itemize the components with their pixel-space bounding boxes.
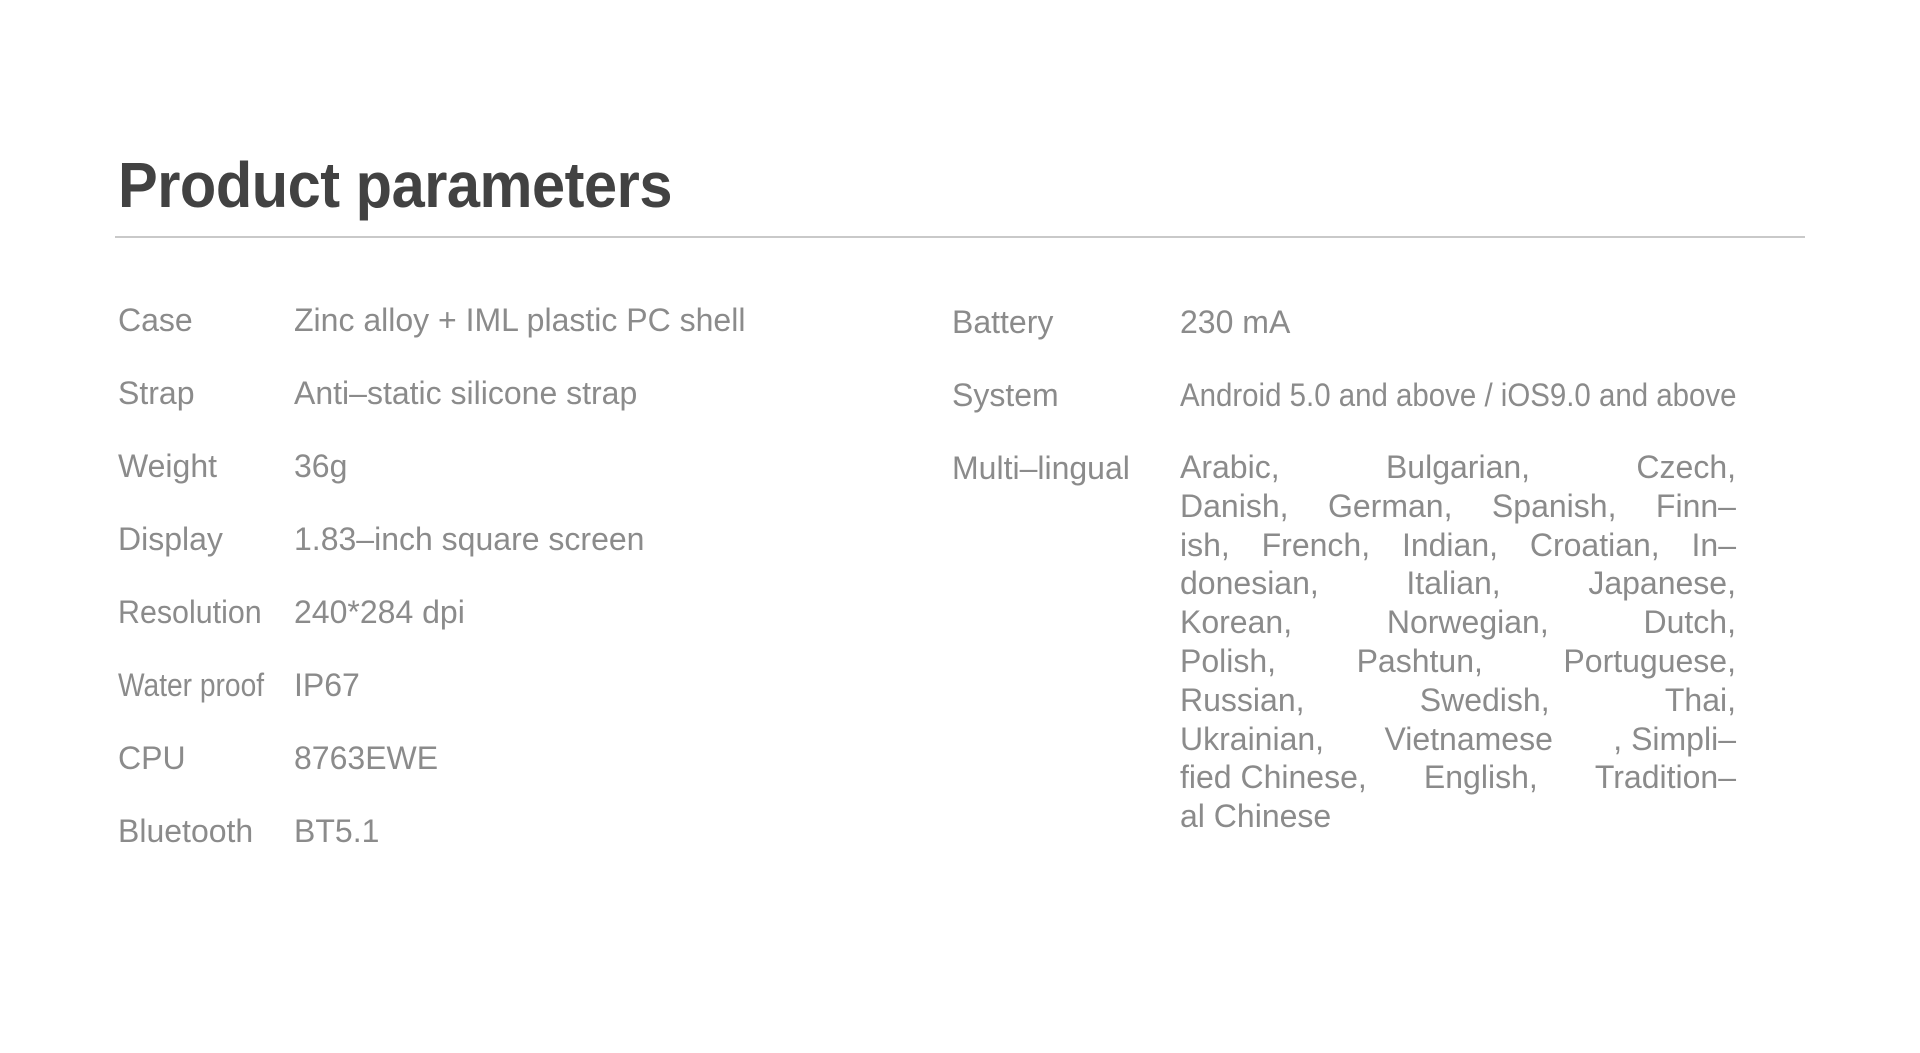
multilingual-word: Dutch, bbox=[1644, 603, 1736, 642]
spec-column-left: Case Zinc alloy + IML plastic PC shell S… bbox=[118, 300, 878, 884]
spec-row-bluetooth: Bluetooth BT5.1 bbox=[118, 811, 878, 884]
multilingual-word: Bulgarian, bbox=[1386, 448, 1530, 487]
spec-value-water-proof: IP67 bbox=[294, 665, 360, 705]
spec-label-case: Case bbox=[118, 300, 193, 340]
spec-value-resolution: 240*284 dpi bbox=[294, 592, 465, 632]
multilingual-line: Danish,German,Spanish,Finn– bbox=[1180, 487, 1736, 526]
spec-column-right: Battery 230 mA System Android 5.0 and ab… bbox=[952, 302, 1742, 448]
multilingual-line: fied Chinese,English,Tradition– bbox=[1180, 758, 1736, 797]
spec-value-case: Zinc alloy + IML plastic PC shell bbox=[294, 300, 745, 340]
multilingual-line: donesian,Italian,Japanese, bbox=[1180, 564, 1736, 603]
multilingual-word: Ukrainian, bbox=[1180, 720, 1324, 759]
multilingual-word: French, bbox=[1262, 526, 1370, 565]
multilingual-word: Czech, bbox=[1636, 448, 1736, 487]
multilingual-word: Vietnamese bbox=[1384, 720, 1552, 759]
page-title: Product parameters bbox=[118, 149, 672, 221]
spec-row-strap: Strap Anti–static silicone strap bbox=[118, 373, 878, 446]
spec-value-system: Android 5.0 and above / iOS9.0 and above bbox=[1180, 375, 1736, 415]
multilingual-word: Japanese, bbox=[1588, 564, 1736, 603]
spec-value-strap: Anti–static silicone strap bbox=[294, 373, 637, 413]
multilingual-word: English, bbox=[1424, 758, 1538, 797]
multilingual-word: In– bbox=[1692, 526, 1736, 565]
spec-label-system: System bbox=[952, 375, 1059, 415]
spec-value-cpu: 8763EWE bbox=[294, 738, 438, 778]
multilingual-word: Swedish, bbox=[1420, 681, 1550, 720]
multilingual-word: Italian, bbox=[1406, 564, 1500, 603]
spec-row-cpu: CPU 8763EWE bbox=[118, 738, 878, 811]
multilingual-word: Tradition– bbox=[1595, 758, 1736, 797]
spec-label-weight: Weight bbox=[118, 446, 217, 486]
multilingual-word: Portuguese, bbox=[1563, 642, 1736, 681]
spec-label-display: Display bbox=[118, 519, 223, 559]
spec-label-water-proof: Water proof bbox=[118, 665, 264, 705]
multilingual-word: Korean, bbox=[1180, 603, 1292, 642]
multilingual-line: al Chinese bbox=[1180, 797, 1736, 836]
spec-value-display: 1.83–inch square screen bbox=[294, 519, 644, 559]
multilingual-word: Arabic, bbox=[1180, 448, 1280, 487]
multilingual-word: , Simpli– bbox=[1613, 720, 1736, 759]
spec-row-weight: Weight 36g bbox=[118, 446, 878, 519]
multilingual-line: Korean,Norwegian,Dutch, bbox=[1180, 603, 1736, 642]
spec-label-cpu: CPU bbox=[118, 738, 186, 778]
multilingual-word: fied Chinese, bbox=[1180, 758, 1367, 797]
multilingual-word: ish, bbox=[1180, 526, 1230, 565]
spec-value-battery: 230 mA bbox=[1180, 302, 1290, 342]
spec-label-battery: Battery bbox=[952, 302, 1053, 342]
multilingual-word: Spanish, bbox=[1492, 487, 1617, 526]
spec-row-water-proof: Water proof IP67 bbox=[118, 665, 878, 738]
multilingual-line: Polish,Pashtun,Portuguese, bbox=[1180, 642, 1736, 681]
spec-label-bluetooth: Bluetooth bbox=[118, 811, 253, 851]
multilingual-line: Ukrainian,Vietnamese, Simpli– bbox=[1180, 720, 1736, 759]
spec-label-multilingual: Multi–lingual bbox=[952, 448, 1130, 488]
spec-label-strap: Strap bbox=[118, 373, 194, 413]
multilingual-word: Croatian, bbox=[1530, 526, 1660, 565]
multilingual-word: Thai, bbox=[1665, 681, 1736, 720]
multilingual-word: Polish, bbox=[1180, 642, 1276, 681]
spec-row-resolution: Resolution 240*284 dpi bbox=[118, 592, 878, 665]
multilingual-line: Russian,Swedish,Thai, bbox=[1180, 681, 1736, 720]
multilingual-word: Pashtun, bbox=[1357, 642, 1483, 681]
spec-row-display: Display 1.83–inch square screen bbox=[118, 519, 878, 592]
multilingual-word: al Chinese bbox=[1180, 797, 1331, 836]
title-divider bbox=[115, 236, 1805, 238]
spec-row-case: Case Zinc alloy + IML plastic PC shell bbox=[118, 300, 878, 373]
spec-value-weight: 36g bbox=[294, 446, 347, 486]
spec-value-multilingual: Arabic,Bulgarian,Czech,Danish,German,Spa… bbox=[1180, 448, 1736, 836]
spec-label-resolution: Resolution bbox=[118, 592, 262, 632]
spec-row-battery: Battery 230 mA bbox=[952, 302, 1742, 375]
spec-row-system: System Android 5.0 and above / iOS9.0 an… bbox=[952, 375, 1742, 448]
multilingual-word: Russian, bbox=[1180, 681, 1305, 720]
spec-value-bluetooth: BT5.1 bbox=[294, 811, 379, 851]
multilingual-line: ish,French,Indian,Croatian,In– bbox=[1180, 526, 1736, 565]
multilingual-word: Indian, bbox=[1402, 526, 1498, 565]
multilingual-word: Danish, bbox=[1180, 487, 1289, 526]
multilingual-word: donesian, bbox=[1180, 564, 1319, 603]
multilingual-line: Arabic,Bulgarian,Czech, bbox=[1180, 448, 1736, 487]
product-parameters-page: Product parameters Case Zinc alloy + IML… bbox=[0, 0, 1920, 1053]
multilingual-word: Finn– bbox=[1656, 487, 1736, 526]
multilingual-word: German, bbox=[1328, 487, 1452, 526]
multilingual-word: Norwegian, bbox=[1387, 603, 1549, 642]
